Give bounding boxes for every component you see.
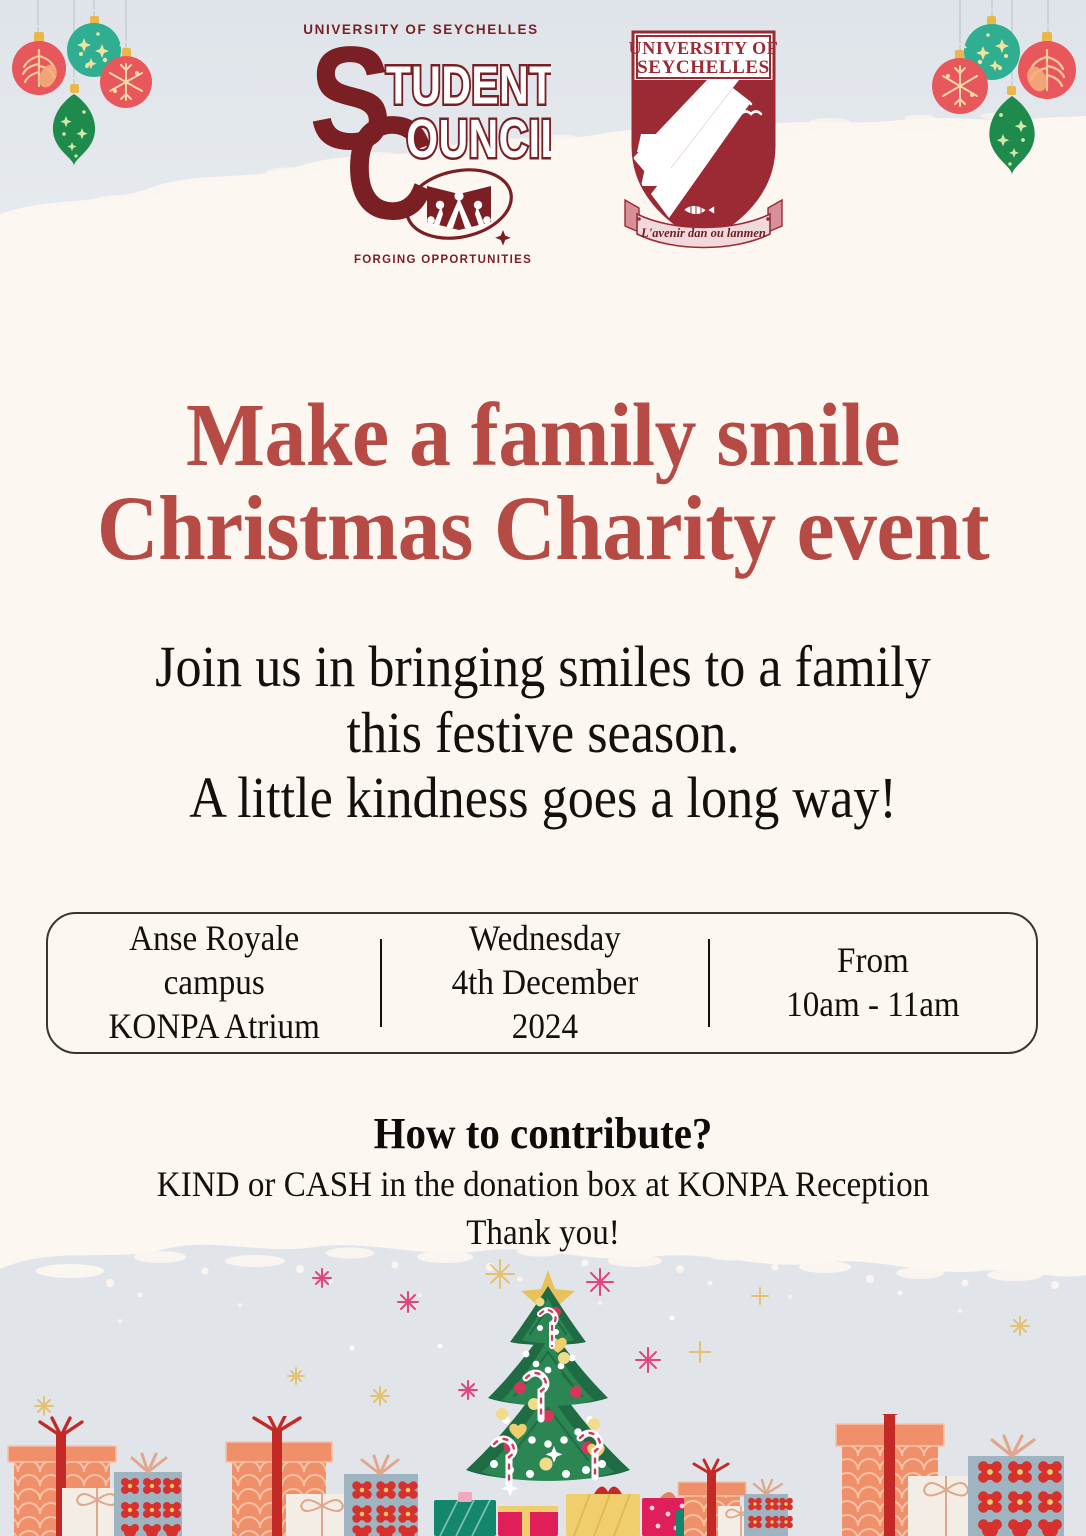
intro-line-2: this festive season. bbox=[54, 700, 1031, 766]
header-logos: UNIVERSITY OF SEYCHELLES S C TUDENT OUNC… bbox=[0, 18, 1086, 293]
time-line-1: From bbox=[723, 939, 1023, 983]
christmas-tree bbox=[398, 1268, 698, 1536]
time-line-2: 10am - 11am bbox=[723, 983, 1023, 1027]
contribute-section: How to contribute? KIND or CASH in the d… bbox=[0, 1108, 1086, 1255]
date-line-3: 2024 bbox=[395, 1005, 695, 1049]
gift-boxes-left bbox=[0, 1416, 426, 1536]
event-details-box: Anse Royale campus KONPA Atrium Wednesda… bbox=[46, 912, 1038, 1054]
svg-text:TUDENT: TUDENT bbox=[385, 56, 550, 116]
contribute-heading: How to contribute? bbox=[38, 1108, 1048, 1159]
detail-time: From 10am - 11am bbox=[723, 939, 1023, 1027]
intro-line-1: Join us in bringing smiles to a family bbox=[54, 634, 1031, 700]
details-separator-1 bbox=[380, 939, 382, 1027]
location-line-2: campus bbox=[61, 961, 367, 1005]
date-line-1: Wednesday bbox=[395, 917, 695, 961]
title-line-2: Christmas Charity event bbox=[38, 482, 1048, 576]
crest-line1: UNIVERSITY OF bbox=[628, 38, 778, 58]
student-council-logo: UNIVERSITY OF SEYCHELLES S C TUDENT OUNC… bbox=[291, 18, 551, 273]
intro-line-3: A little kindness goes a long way! bbox=[54, 765, 1031, 831]
location-line-1: Anse Royale bbox=[61, 917, 367, 961]
crest-line2: SEYCHELLES bbox=[637, 57, 770, 78]
date-line-2: 4th December bbox=[395, 961, 695, 1005]
intro-text: Join us in bringing smiles to a family t… bbox=[54, 634, 1031, 831]
detail-date: Wednesday 4th December 2024 bbox=[395, 917, 695, 1049]
contribute-line-2: Thank you! bbox=[43, 1211, 1042, 1255]
poster-canvas: UNIVERSITY OF SEYCHELLES S C TUDENT OUNC… bbox=[0, 0, 1086, 1536]
title-line-1: Make a family smile bbox=[186, 386, 900, 485]
university-crest-logo: UNIVERSITY OF SEYCHELLES L'avenir dan ou… bbox=[611, 18, 796, 268]
contribute-line-1: KIND or CASH in the donation box at KONP… bbox=[43, 1163, 1042, 1207]
detail-location: Anse Royale campus KONPA Atrium bbox=[61, 917, 367, 1049]
gift-boxes-right bbox=[660, 1414, 1086, 1536]
svg-text:OUNCIL: OUNCIL bbox=[406, 110, 551, 170]
location-line-3: KONPA Atrium bbox=[61, 1005, 367, 1049]
sc-tagline: FORGING OPPORTUNITIES bbox=[353, 254, 531, 266]
page-title: Make a family smile Christmas Charity ev… bbox=[38, 390, 1048, 576]
details-separator-2 bbox=[708, 939, 710, 1027]
crest-motto: L'avenir dan ou lanmen bbox=[640, 226, 766, 240]
